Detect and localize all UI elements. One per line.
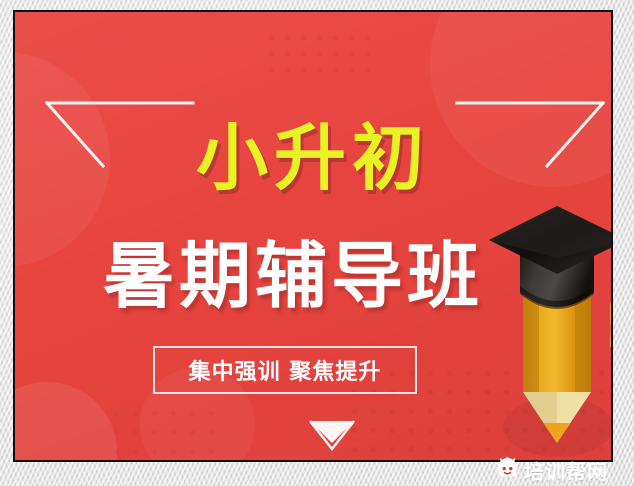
soft-circle-icon — [13, 382, 117, 462]
tagline-text: 集中强训 聚焦提升 — [189, 354, 382, 386]
headline-primary: 小升初 — [15, 122, 611, 194]
watermark-text: 培训帮网 — [524, 456, 608, 485]
graduation-cap-icon — [489, 206, 613, 309]
promo-banner: 小升初 暑期辅导班 集中强训 聚焦提升 — [13, 10, 613, 462]
dot-grid-icon — [263, 30, 379, 78]
watermark: 培训帮网 — [496, 456, 608, 485]
chevron-down-arrow-icon[interactable] — [302, 415, 362, 457]
poster-root: 小升初 暑期辅导班 集中强训 聚焦提升 — [0, 0, 634, 486]
dot-grid-icon — [107, 404, 227, 462]
pencil-with-graduation-cap-illustration — [487, 200, 613, 455]
sun-face-logo-icon — [496, 457, 519, 484]
tagline-box: 集中强训 聚焦提升 — [153, 346, 417, 394]
